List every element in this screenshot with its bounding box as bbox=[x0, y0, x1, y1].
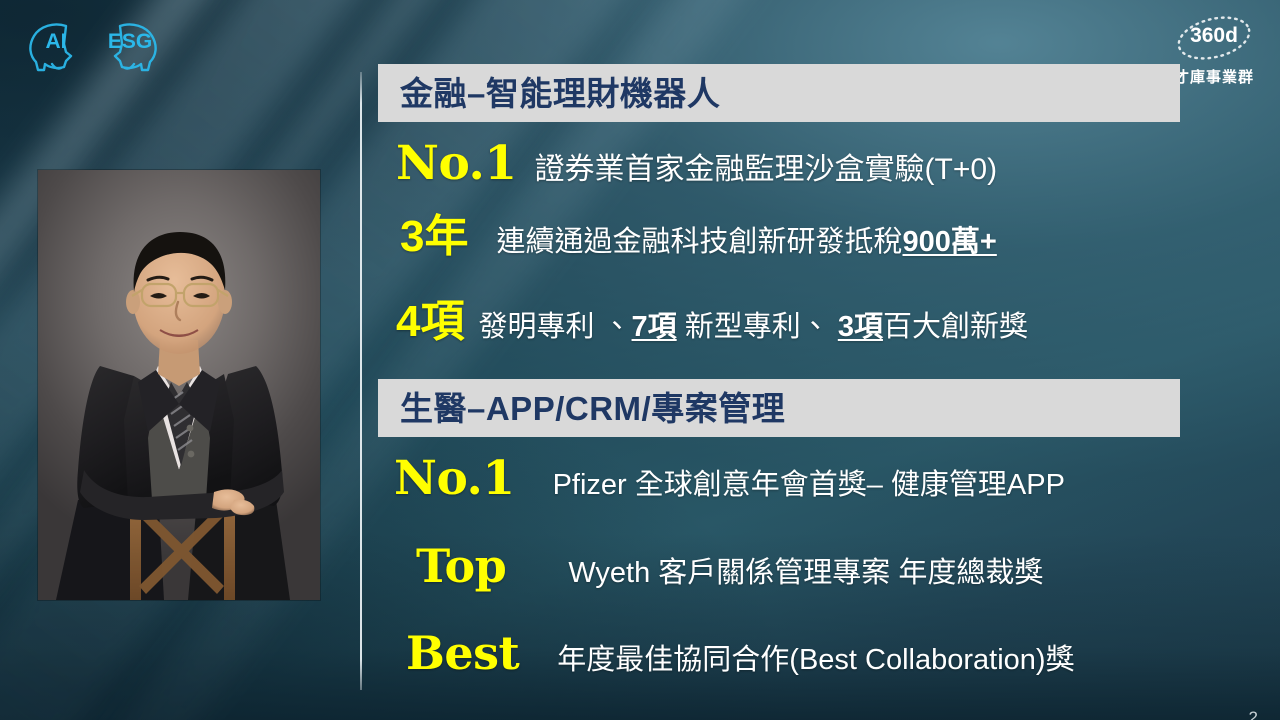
portrait-photo bbox=[38, 170, 320, 600]
achievement-badge: Best bbox=[406, 630, 519, 676]
achievement-badge: 3年 bbox=[400, 215, 468, 259]
achievement-desc: 證券業首家金融監理沙盒實驗(T+0) bbox=[535, 153, 998, 186]
vertical-divider bbox=[360, 72, 362, 690]
achievement-row: 3年 連續通過金融科技創新研發抵稅900萬+ bbox=[400, 215, 997, 259]
achievement-row: No.1 證券業首家金融監理沙盒實驗(T+0) bbox=[396, 140, 997, 187]
ai-label: AI bbox=[46, 30, 67, 53]
achievement-desc: Pfizer 全球創意年會首獎– 健康管理APP bbox=[553, 470, 1065, 502]
achievement-badge: 4項 bbox=[396, 300, 464, 344]
section-header-finance: 金融–智能理財機器人 bbox=[378, 64, 1180, 122]
achievement-desc: 發明專利 、7項 新型專利、 3項百大創新獎 bbox=[478, 312, 1027, 344]
achievement-badge: No.1 bbox=[394, 455, 515, 502]
achievement-badge: No.1 bbox=[396, 140, 517, 187]
achievement-row: Top Wyeth 客戶關係管理專案 年度總裁獎 bbox=[416, 543, 1043, 590]
slide-canvas: AI ESG 360d 才庫事業群 bbox=[0, 0, 1280, 720]
achievement-row: 4項 發明專利 、7項 新型專利、 3項百大創新獎 bbox=[396, 300, 1028, 344]
achievement-row: No.1 Pfizer 全球創意年會首獎– 健康管理APP bbox=[394, 455, 1065, 502]
esg-label: ESG bbox=[108, 30, 152, 53]
achievement-desc: 連續通過金融科技創新研發抵稅900萬+ bbox=[496, 227, 996, 259]
achievement-row: Best 年度最佳協同合作(Best Collaboration)獎 bbox=[406, 630, 1075, 677]
achievement-desc: Wyeth 客戶關係管理專案 年度總裁獎 bbox=[568, 558, 1043, 590]
section-title-finance: 金融–智能理財機器人 bbox=[400, 77, 720, 110]
section-title-biomed: 生醫–APP/CRM/專案管理 bbox=[400, 392, 785, 425]
achievement-badge: Top bbox=[416, 543, 506, 589]
page-number: 2 bbox=[1249, 708, 1258, 720]
content-column: 金融–智能理財機器人 No.1 證券業首家金融監理沙盒實驗(T+0) 3年 連續… bbox=[378, 0, 1280, 720]
ai-esg-logo: AI ESG bbox=[12, 6, 172, 86]
achievement-desc: 年度最佳協同合作(Best Collaboration)獎 bbox=[557, 645, 1074, 677]
section-header-biomed: 生醫–APP/CRM/專案管理 bbox=[378, 379, 1180, 437]
